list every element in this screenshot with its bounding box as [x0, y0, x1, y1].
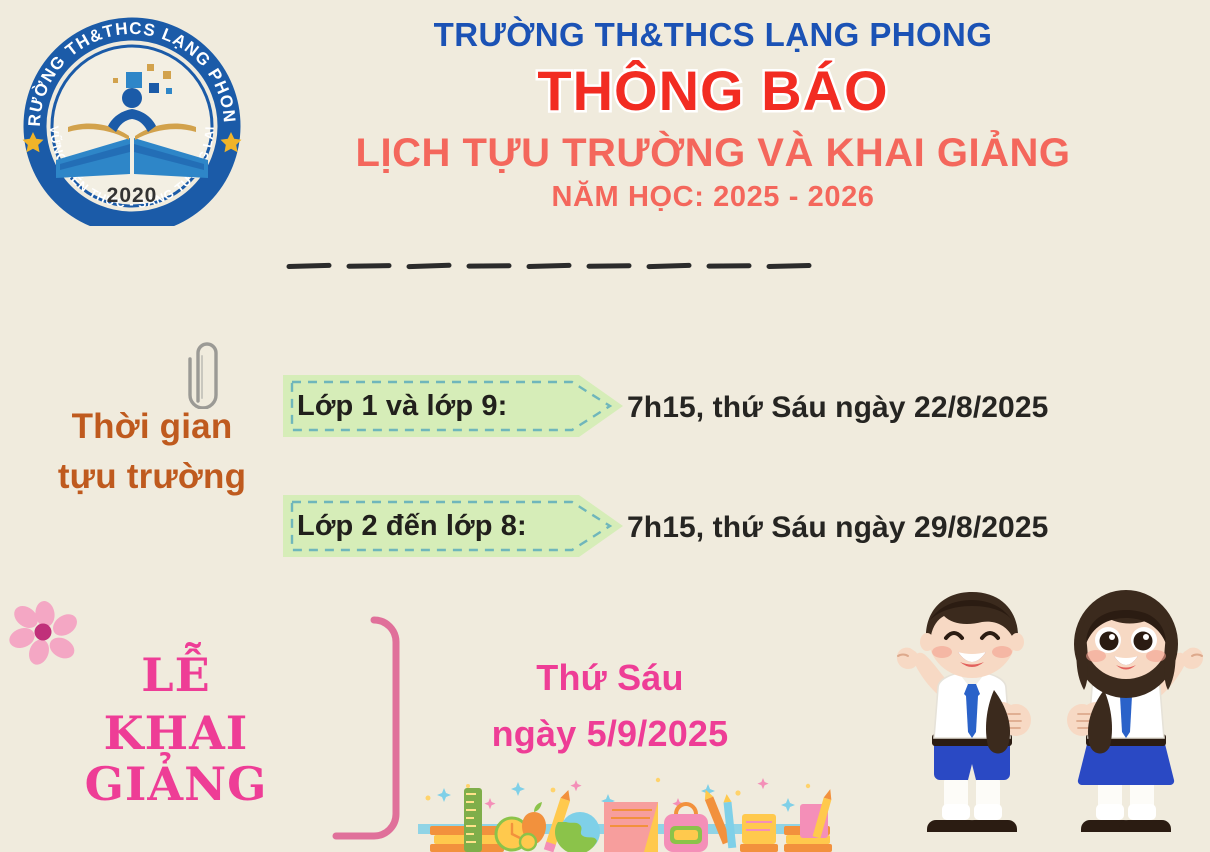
announcement-poster: TRƯỜNG TH&THCS LẠNG PHONG VỮNG KIẾN THỨC…: [0, 0, 1210, 852]
two-cheering-students-illustration: [890, 590, 1210, 852]
arrival-time-2: 7h15, thứ Sáu ngày 29/8/2025: [627, 511, 1048, 545]
notice-title: THÔNG BÁO: [248, 62, 1178, 121]
dashed-divider: [285, 262, 825, 270]
logo-year: 2020: [107, 184, 158, 207]
opening-title-line1: LỄ: [20, 650, 332, 702]
paperclip-icon: [183, 337, 225, 409]
notice-subtitle: LỊCH TỰU TRƯỜNG VÀ KHAI GIẢNG: [248, 131, 1178, 176]
arrival-time-1: 7h15, thứ Sáu ngày 22/8/2025: [627, 391, 1048, 425]
school-supplies-illustration: [408, 768, 838, 852]
opening-title-line2: KHAI GIẢNG: [20, 708, 332, 811]
arrival-tag-grade1-9: Lớp 1 và lớp 9:: [283, 375, 623, 437]
opening-title: LỄ KHAI GIẢNG: [20, 650, 332, 811]
school-logo: TRƯỜNG TH&THCS LẠNG PHONG VỮNG KIẾN THỨC…: [16, 14, 248, 226]
opening-date-line2: ngày 5/9/2025: [430, 706, 790, 762]
school-year: NĂM HỌC: 2025 - 2026: [248, 182, 1178, 214]
arrival-tag-label-1: Lớp 1 và lớp 9:: [283, 375, 583, 437]
arrival-tag-label-2: Lớp 2 đến lớp 8:: [283, 495, 583, 557]
boy-student: [897, 592, 1031, 832]
school-name: TRƯỜNG TH&THCS LẠNG PHONG: [248, 16, 1178, 54]
opening-date: Thứ Sáu ngày 5/9/2025: [430, 650, 790, 762]
arrival-label-line2: tựu trường: [18, 452, 286, 502]
girl-student: [1067, 590, 1203, 832]
arrival-section-label: Thời gian tựu trường: [18, 402, 286, 501]
arrival-tag-grade2-8: Lớp 2 đến lớp 8:: [283, 495, 623, 557]
pink-bracket: [330, 608, 402, 848]
poster-header: TRƯỜNG TH&THCS LẠNG PHONG THÔNG BÁO LỊCH…: [248, 16, 1178, 213]
arrival-label-line1: Thời gian: [18, 402, 286, 452]
opening-date-line1: Thứ Sáu: [430, 650, 790, 706]
